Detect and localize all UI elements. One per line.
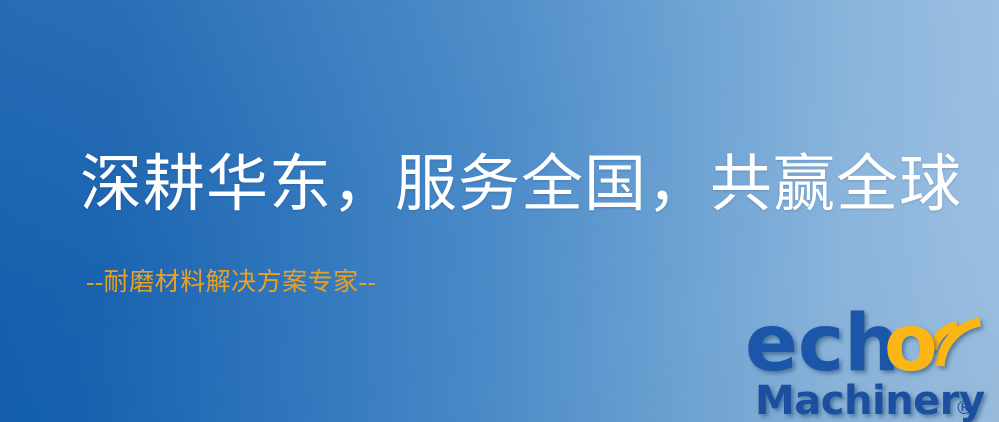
company-logo[interactable]: ech o Machinery ® [745,300,999,422]
logo-svg: ech o Machinery ® [745,300,999,422]
logo-registered-mark: ® [955,397,974,419]
promo-banner: 深耕华东，服务全国，共赢全球 --耐磨材料解决方案专家-- ech o [0,0,999,422]
logo-brand-o: o [884,299,938,389]
signal-waves-icon [933,322,980,366]
logo-tagline: Machinery [755,378,985,422]
banner-headline: 深耕华东，服务全国，共赢全球 [80,152,962,219]
logo-brand-ech: ech [745,299,900,389]
banner-subtitle: --耐磨材料解决方案专家-- [86,268,376,298]
